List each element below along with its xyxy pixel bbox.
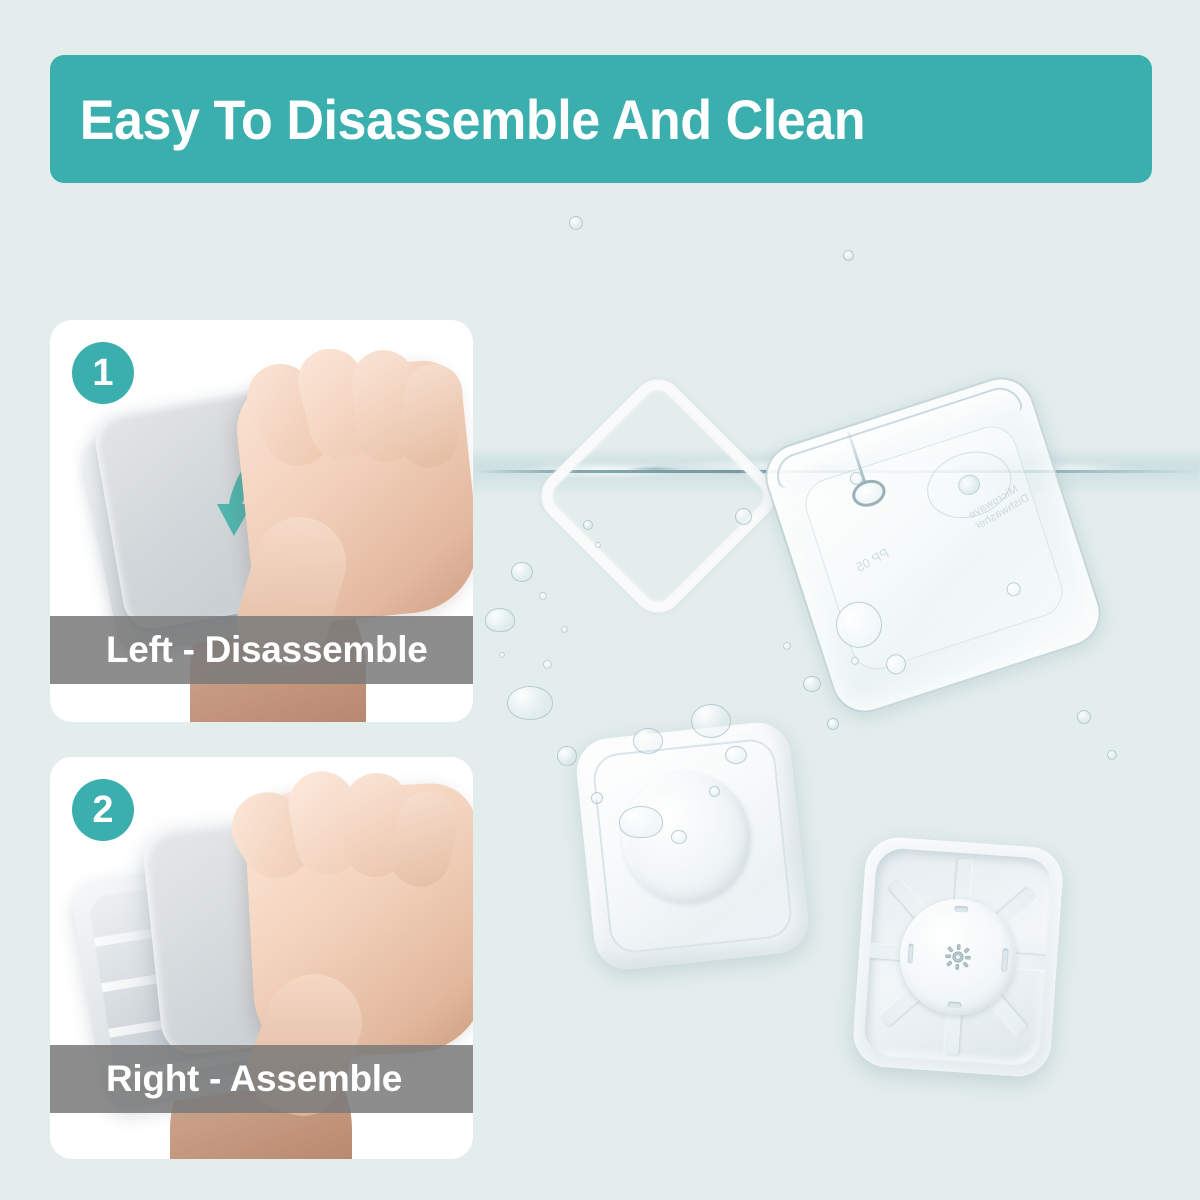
header-banner: Easy To Disassemble And Clean xyxy=(50,55,1152,183)
lid-underside-view xyxy=(851,835,1065,1078)
water-droplet xyxy=(1077,710,1091,724)
hub-slot-bottom xyxy=(947,1001,961,1008)
water-droplet xyxy=(561,626,568,633)
water-droplet xyxy=(543,660,552,669)
water-droplet xyxy=(511,562,533,582)
water-droplet xyxy=(850,472,863,485)
water-droplet xyxy=(619,806,663,838)
water-droplet xyxy=(1107,750,1117,760)
step-badge-2: 2 xyxy=(72,779,134,841)
hub-slot-top xyxy=(954,906,968,913)
step-1-caption-text: Left - Disassemble xyxy=(50,629,428,671)
page-title: Easy To Disassemble And Clean xyxy=(50,87,865,152)
lid-top-view xyxy=(573,719,811,972)
transparent-food-container: Microwave Dishwasher PP 05 xyxy=(757,369,1110,722)
water-droplet xyxy=(583,520,593,530)
water-droplet xyxy=(735,508,752,525)
water-droplet xyxy=(671,830,687,844)
step-badge-1: 1 xyxy=(72,342,134,404)
water-droplet xyxy=(591,792,603,804)
water-droplet xyxy=(539,592,547,600)
water-droplet xyxy=(827,718,839,730)
water-droplet xyxy=(557,746,577,766)
water-droplet xyxy=(507,686,553,720)
hub-slot-left xyxy=(907,944,913,964)
water-droplet xyxy=(709,786,720,797)
water-droplet xyxy=(803,676,821,692)
step-card-2: 2 Right - Assemble xyxy=(50,757,473,1159)
water-droplet xyxy=(725,746,747,764)
step-2-caption-text: Right - Assemble xyxy=(50,1058,402,1100)
water-droplet xyxy=(595,542,601,548)
water-droplet xyxy=(843,250,854,261)
step-2-caption-bar: Right - Assemble xyxy=(50,1045,473,1113)
product-water-scene: Microwave Dishwasher PP 05 xyxy=(473,190,1200,1200)
step-card-1: 1 Left - Disassemble xyxy=(50,320,473,722)
water-droplet xyxy=(485,608,515,632)
water-droplet xyxy=(499,652,505,658)
step-1-caption-bar: Left - Disassemble xyxy=(50,616,473,684)
water-droplet xyxy=(569,216,583,230)
water-droplet xyxy=(691,704,731,738)
hub-slot-right xyxy=(1001,948,1009,972)
water-droplet xyxy=(633,728,663,754)
vent-gear-icon xyxy=(944,943,972,971)
water-droplet xyxy=(783,642,791,650)
lid-underside-wall xyxy=(863,847,1053,1067)
silicone-seal-ring xyxy=(531,369,786,624)
